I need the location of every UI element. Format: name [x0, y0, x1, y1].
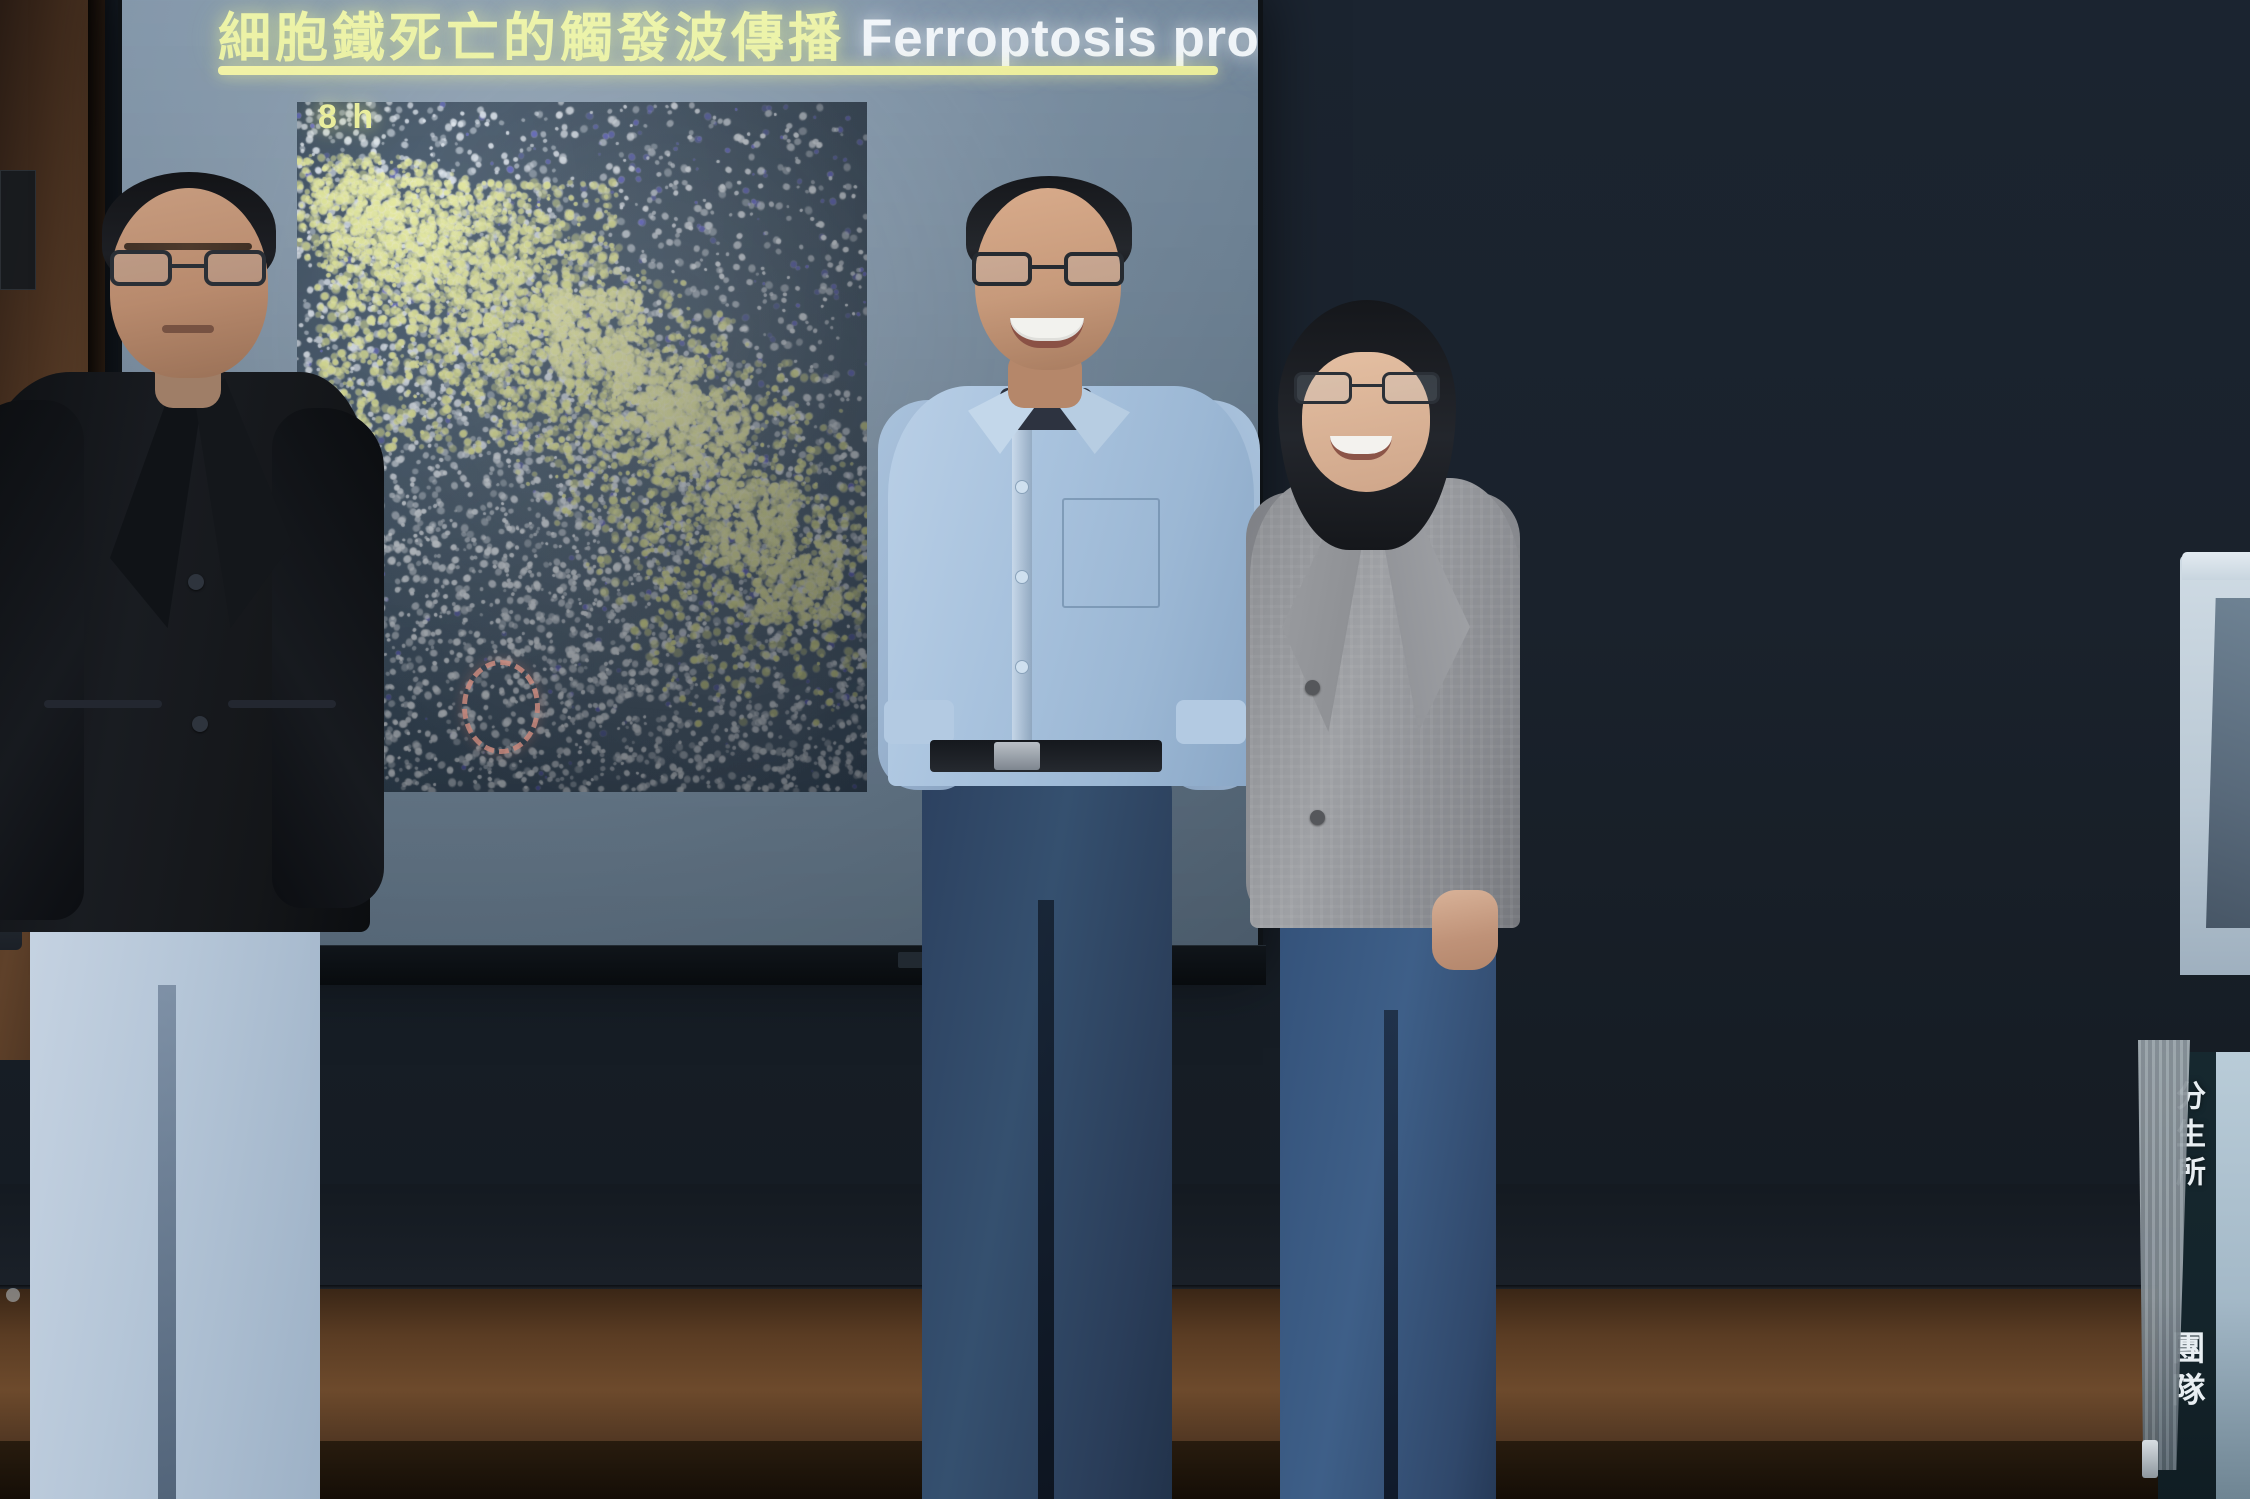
person-center-shirt-pocket: [1062, 498, 1160, 608]
person-center-button: [1015, 480, 1029, 494]
person-right-jean-seam: [1384, 1010, 1398, 1499]
micrograph-time-label: 8 h: [318, 98, 376, 137]
person-left-mouth: [162, 325, 214, 333]
event-banner-edge: [2216, 1052, 2250, 1499]
slide-title-underline: [218, 66, 1218, 75]
micrograph-annotation-circle-icon: [462, 660, 540, 754]
wall-marker-dot: [6, 1288, 20, 1302]
person-center-button: [1015, 570, 1029, 584]
person-left-pocket-right: [228, 700, 336, 708]
glasses-lens-left: [110, 250, 172, 286]
person-left-arm-right: [272, 408, 384, 908]
slide-title: 細胞鐵死亡的觸發波傳播 Ferroptosis propagation as t…: [218, 0, 1258, 72]
person-left-pocket-left: [44, 700, 162, 708]
person-left-trouser-seam: [158, 985, 176, 1499]
photo-stage: 細胞鐵死亡的觸發波傳播 Ferroptosis propagation as t…: [0, 0, 2250, 1499]
person-right-glasses-icon: [1294, 372, 1440, 406]
glasses-lens-left: [1294, 372, 1352, 404]
microphone: [2142, 1440, 2158, 1478]
person-center-belt: [930, 740, 1162, 772]
glasses-lens-left: [972, 252, 1032, 286]
person-center-jean-seam: [1038, 900, 1054, 1499]
person-center-button: [1015, 660, 1029, 674]
person-left-glasses-icon: [110, 250, 266, 288]
slide-title-chinese: 細胞鐵死亡的觸發波傳播: [218, 8, 845, 69]
glasses-bridge: [1352, 384, 1382, 387]
person-center-glasses-icon: [972, 252, 1124, 288]
person-left-arm-left: [0, 400, 84, 920]
glasses-bridge: [1032, 265, 1064, 269]
person-center-belt-buckle: [994, 742, 1040, 770]
person-left-eyebrows: [124, 243, 252, 250]
person-left-button: [188, 574, 204, 590]
glasses-lens-right: [204, 250, 266, 286]
glasses-lens-right: [1064, 252, 1124, 286]
lectern-top-surface: [2182, 552, 2250, 580]
person-right-hand: [1432, 890, 1498, 970]
wall-fixture-upper-left: [0, 170, 36, 290]
person-left-button: [192, 716, 208, 732]
person-center-cuff-right: [1176, 700, 1246, 744]
glasses-lens-right: [1382, 372, 1440, 404]
glasses-bridge: [172, 264, 204, 268]
slide-title-english: Ferroptosis propagation as trigger wav: [860, 9, 1258, 68]
person-right-button: [1310, 810, 1325, 825]
person-center-cuff-left: [884, 700, 954, 744]
person-right-button: [1305, 680, 1320, 695]
